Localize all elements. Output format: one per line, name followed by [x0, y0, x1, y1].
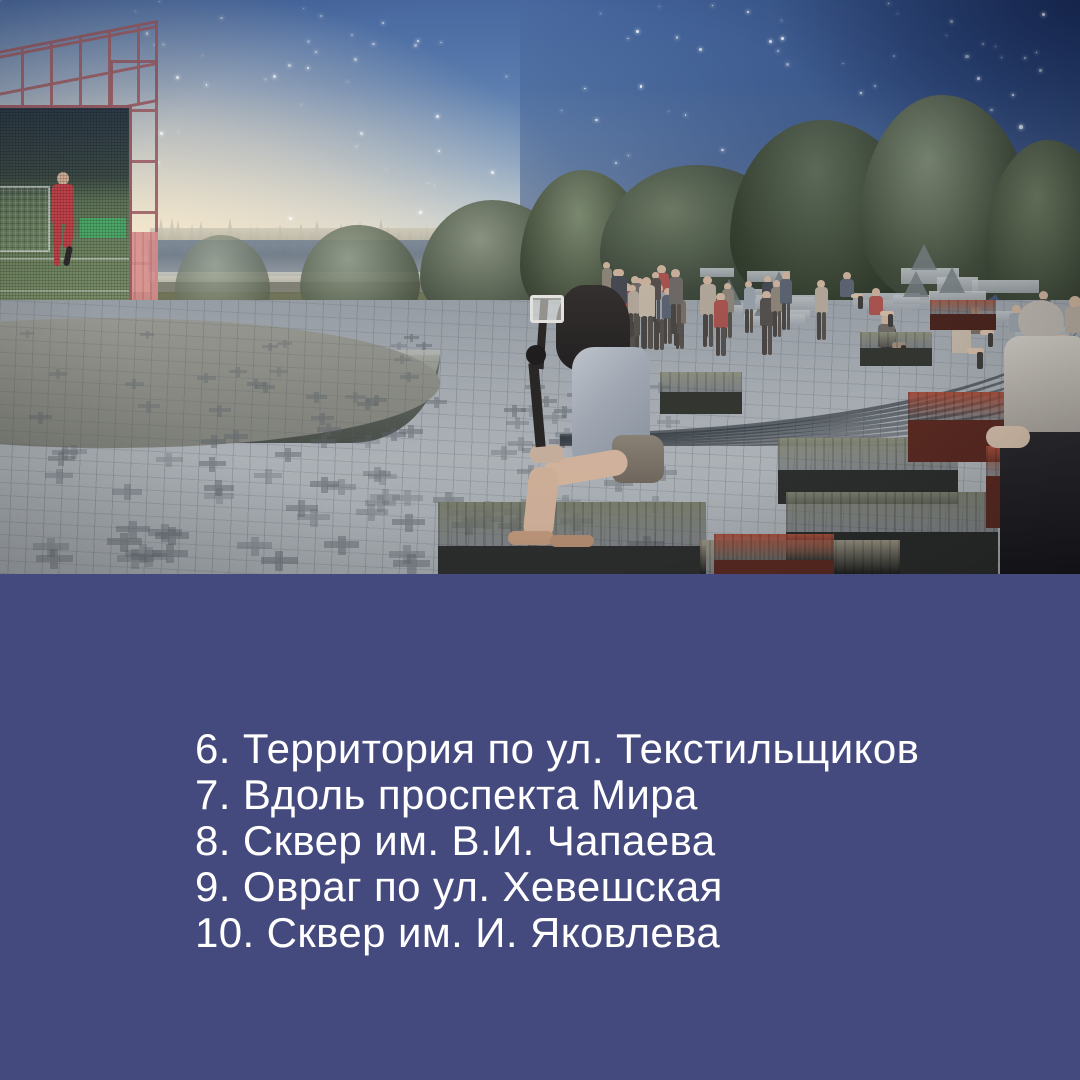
bench — [930, 300, 996, 314]
seated-woman — [520, 285, 670, 535]
bench — [908, 392, 1012, 420]
bench — [714, 534, 834, 560]
render-image — [0, 0, 1080, 574]
parks-list: 6. Территория по ул. Текстильщиков 7. Вд… — [195, 726, 1055, 956]
foreground-figure — [1000, 300, 1080, 574]
bench — [786, 492, 998, 532]
slide-root: 6. Территория по ул. Текстильщиков 7. Вд… — [0, 0, 1080, 1080]
led-pixel-grid — [0, 108, 129, 308]
list-item: 10. Сквер им. И. Яковлева — [195, 910, 1055, 956]
text-panel: 6. Территория по ул. Текстильщиков 7. Вд… — [0, 574, 1080, 1080]
list-item: 7. Вдоль проспекта Мира — [195, 772, 1055, 818]
led-screen — [0, 108, 129, 308]
list-item: 8. Сквер им. В.И. Чапаева — [195, 818, 1055, 864]
bench — [660, 372, 742, 392]
bench — [860, 332, 932, 348]
list-item: 9. Овраг по ул. Хевешская — [195, 864, 1055, 910]
list-item: 6. Территория по ул. Текстильщиков — [195, 726, 1055, 772]
